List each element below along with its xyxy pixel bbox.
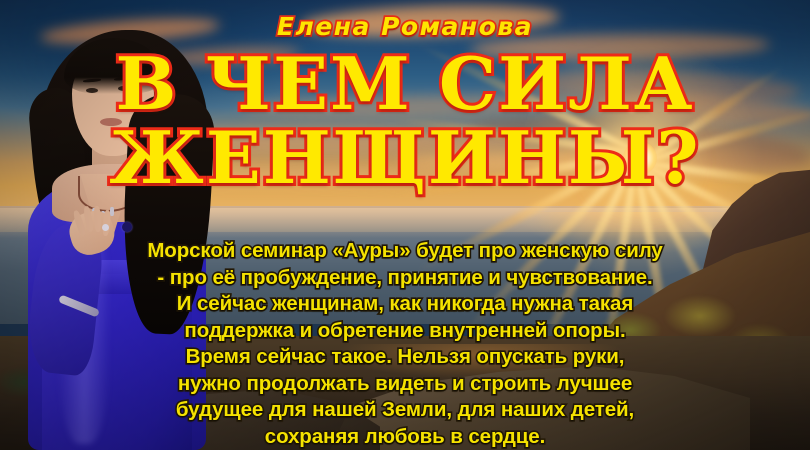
title-line-1: В ЧЕМ СИЛА [0,48,810,120]
body-paragraph: Морской семинар «Ауры» будет про женскую… [0,238,810,450]
body-line: И сейчас женщинам, как никогда нужна так… [0,291,810,318]
seminar-poster: Елена Романова В ЧЕМ СИЛА ЖЕНЩИНЫ? Морск… [0,0,810,450]
brooch [122,222,132,232]
body-line: нужно продолжать видеть и строить лучшее [0,371,810,398]
body-line: будущее для нашей Земли, для наших детей… [0,397,810,424]
body-line: Время сейчас такое. Нельзя опускать руки… [0,344,810,371]
pendant [110,207,114,216]
body-line: - про её пробуждение, принятие и чувство… [0,265,810,292]
body-line: поддержка и обретение внутренней опоры. [0,318,810,345]
body-line: сохраняя любовь в сердце. [0,424,810,450]
body-line: Морской семинар «Ауры» будет про женскую… [0,238,810,265]
ring [102,224,109,231]
author-name: Елена Романова [0,12,810,41]
title-line-2: ЖЕНЩИНЫ? [0,122,810,194]
